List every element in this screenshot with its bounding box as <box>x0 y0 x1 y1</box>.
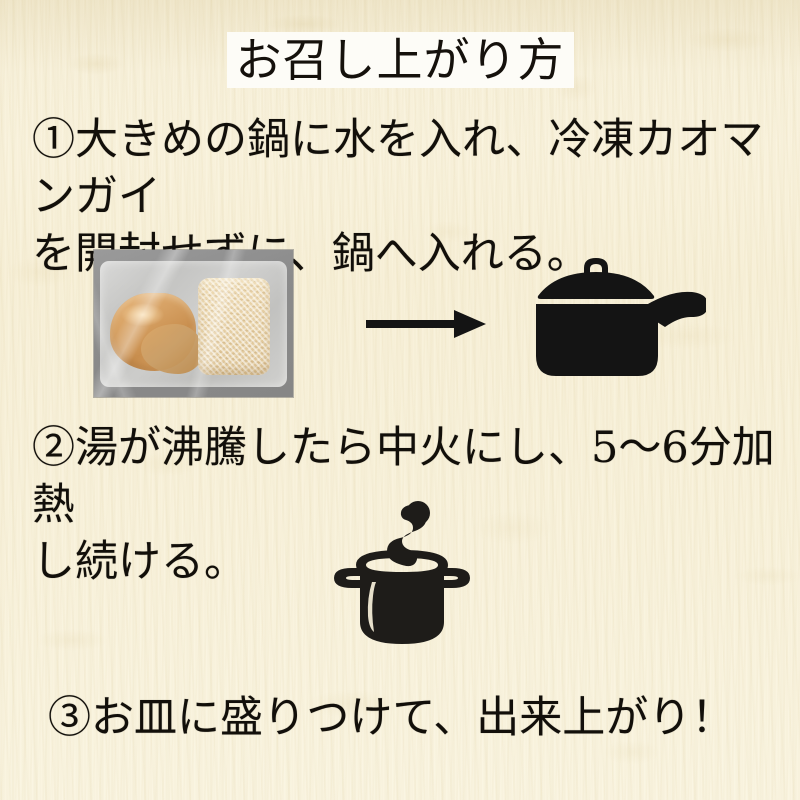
saucepan-icon <box>530 252 706 388</box>
rice-pack <box>198 278 270 375</box>
content-layer: お召し上がり方 ①大きめの鍋に水を入れ、冷凍カオマンガイ を開封せずに、鍋へ入れ… <box>0 0 800 800</box>
page-title-wrapper: お召し上がり方 <box>0 32 800 88</box>
right-arrow-icon <box>366 306 486 346</box>
page-title: お召し上がり方 <box>227 32 574 88</box>
steaming-pot-icon <box>322 500 482 662</box>
step-3-instruction-text: ③お皿に盛りつけて、出来上がり！ <box>48 690 788 747</box>
recipe-instruction-card: お召し上がり方 ①大きめの鍋に水を入れ、冷凍カオマンガイ を開封せずに、鍋へ入れ… <box>0 0 800 800</box>
product-photo <box>94 250 293 397</box>
